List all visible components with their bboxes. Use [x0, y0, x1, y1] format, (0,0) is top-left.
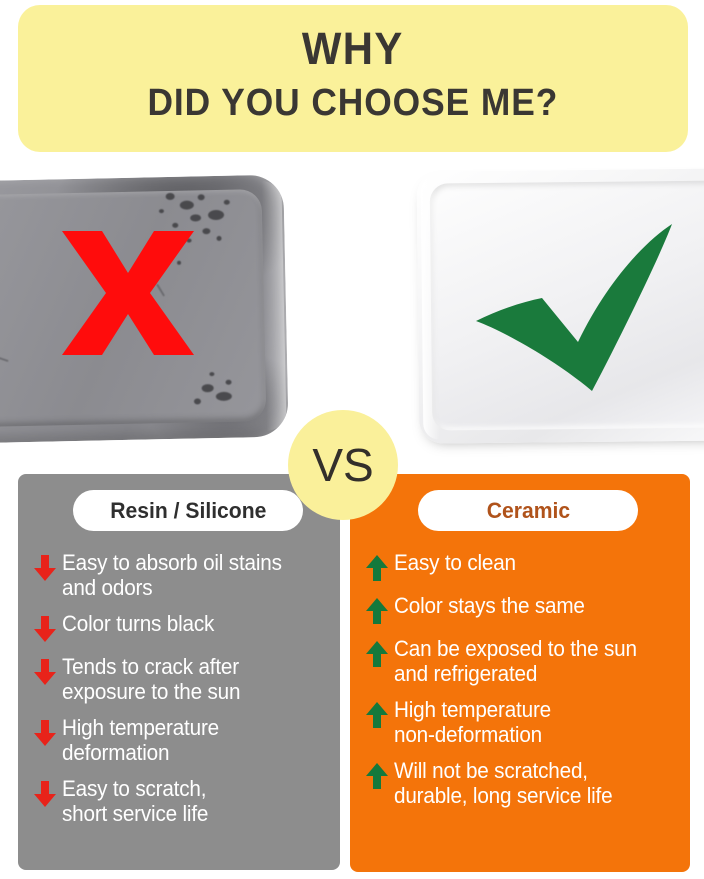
comparison-panel-ceramic: Ceramic Easy to clean Color stays the sa…: [350, 474, 690, 872]
ceramic-title-pill: Ceramic: [418, 490, 638, 531]
list-item-label: Easy to clean: [394, 550, 516, 575]
list-item: Tends to crack after exposure to the sun: [32, 654, 334, 704]
vs-label: VS: [312, 442, 373, 488]
header-banner: WHY DID YOU CHOOSE ME?: [18, 5, 688, 152]
arrow-down-icon: [32, 615, 58, 643]
arrow-down-icon: [32, 658, 58, 686]
arrow-up-icon: [364, 701, 390, 729]
resin-silicone-feature-list: Easy to absorb oil stains and odors Colo…: [18, 550, 340, 837]
list-item: High temperature non-deformation: [364, 697, 684, 747]
arrow-up-icon: [364, 554, 390, 582]
hero-product-comparison: VS: [0, 160, 704, 460]
list-item-label: Color stays the same: [394, 593, 585, 618]
resin-silicone-title-pill: Resin / Silicone: [73, 490, 303, 531]
list-item: High temperature deformation: [32, 715, 334, 765]
list-item: Easy to scratch, short service life: [32, 776, 334, 826]
resin-silicone-title: Resin / Silicone: [110, 498, 266, 524]
list-item: Can be exposed to the sun and refrigerat…: [364, 636, 684, 686]
list-item-label: Easy to scratch, short service life: [62, 776, 208, 826]
list-item: Easy to absorb oil stains and odors: [32, 550, 334, 600]
arrow-up-icon: [364, 762, 390, 790]
list-item-label: High temperature non-deformation: [394, 697, 551, 747]
check-mark-icon: [470, 218, 685, 398]
x-mark-icon: [58, 225, 198, 360]
arrow-down-icon: [32, 554, 58, 582]
arrow-up-icon: [364, 640, 390, 668]
page-title-line2: DID YOU CHOOSE ME?: [148, 80, 559, 128]
arrow-down-icon: [32, 780, 58, 808]
list-item: Easy to clean: [364, 550, 684, 582]
page-title-line1: WHY: [302, 26, 404, 72]
comparison-panel-resin-silicone: Resin / Silicone Easy to absorb oil stai…: [18, 474, 340, 870]
arrow-down-icon: [32, 719, 58, 747]
ceramic-title: Ceramic: [486, 498, 569, 524]
list-item-label: Color turns black: [62, 611, 214, 636]
ceramic-feature-list: Easy to clean Color stays the same Can b…: [350, 550, 690, 819]
list-item-label: Easy to absorb oil stains and odors: [62, 550, 282, 600]
list-item: Will not be scratched, durable, long ser…: [364, 758, 684, 808]
arrow-up-icon: [364, 597, 390, 625]
vs-badge: VS: [288, 410, 398, 520]
list-item: Color turns black: [32, 611, 334, 643]
list-item-label: Will not be scratched, durable, long ser…: [394, 758, 612, 808]
list-item-label: High temperature deformation: [62, 715, 219, 765]
list-item-label: Can be exposed to the sun and refrigerat…: [394, 636, 637, 686]
list-item: Color stays the same: [364, 593, 684, 625]
list-item-label: Tends to crack after exposure to the sun: [62, 654, 240, 704]
